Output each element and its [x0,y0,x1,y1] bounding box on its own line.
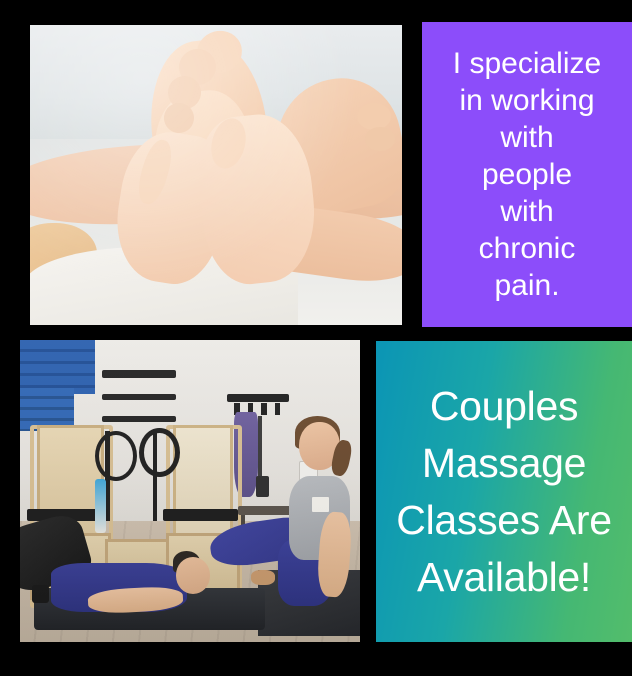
promo-text-block: Couples Massage Classes Are Available! [376,378,632,606]
foot-massage-illustration [30,25,402,325]
photo-highlight-overlay [30,25,402,325]
pilates-studio-illustration [20,340,360,642]
quote-line-1: I specialize [428,45,626,82]
quote-line-6: chronic [428,230,626,267]
pilates-studio-photo [20,340,360,642]
promo-line-4: Available! [382,549,626,606]
image-collage: I specialize in working with people with… [0,0,632,676]
promo-line-1: Couples [382,378,626,435]
quote-panel: I specialize in working with people with… [422,22,632,327]
quote-line-4: people [428,156,626,193]
quote-line-3: with [428,119,626,156]
promo-panel: Couples Massage Classes Are Available! [376,341,632,642]
quote-text-block: I specialize in working with people with… [422,45,632,304]
quote-line-2: in working [428,82,626,119]
quote-line-5: with [428,193,626,230]
quote-line-7: pain. [428,267,626,304]
foot-massage-photo [30,25,402,325]
promo-line-3: Classes Are [382,492,626,549]
promo-line-2: Massage [382,435,626,492]
photo-tint-overlay [20,340,360,642]
